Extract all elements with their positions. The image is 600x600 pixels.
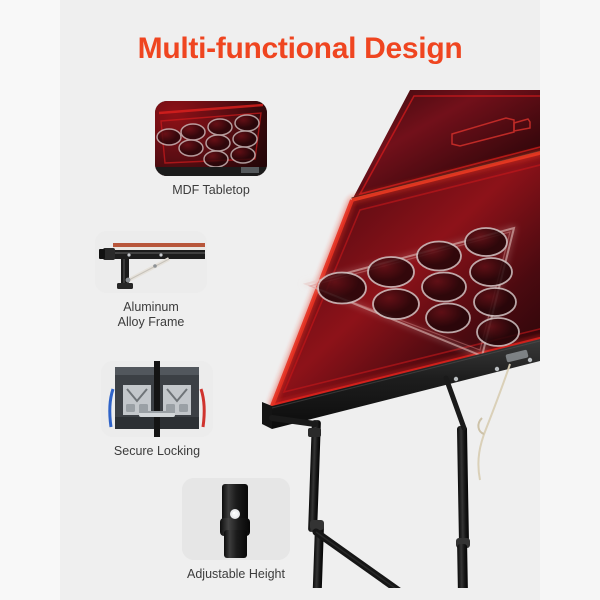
- feature-mdf-tabletop[interactable]: MDF Tabletop: [155, 101, 267, 198]
- feature-label: Secure Locking: [101, 444, 213, 459]
- page-title: Multi-functional Design: [0, 32, 600, 66]
- feature-aluminum-alloy-frame[interactable]: Aluminum Alloy Frame: [95, 231, 207, 330]
- product-infographic: Multi-functional Design: [0, 0, 600, 600]
- mdf-tabletop-thumbnail: [155, 101, 267, 176]
- feature-label: Aluminum Alloy Frame: [95, 300, 207, 330]
- secure-locking-thumbnail: [101, 361, 213, 437]
- feature-label: Adjustable Height: [182, 567, 290, 582]
- aluminum-alloy-frame-thumbnail: [95, 231, 207, 293]
- feature-adjustable-height[interactable]: Adjustable Height: [182, 478, 290, 582]
- feature-label: MDF Tabletop: [155, 183, 267, 198]
- adjustable-height-thumbnail: [182, 478, 290, 560]
- feature-secure-locking[interactable]: Secure Locking: [101, 361, 213, 459]
- background-panel-left: [0, 0, 60, 600]
